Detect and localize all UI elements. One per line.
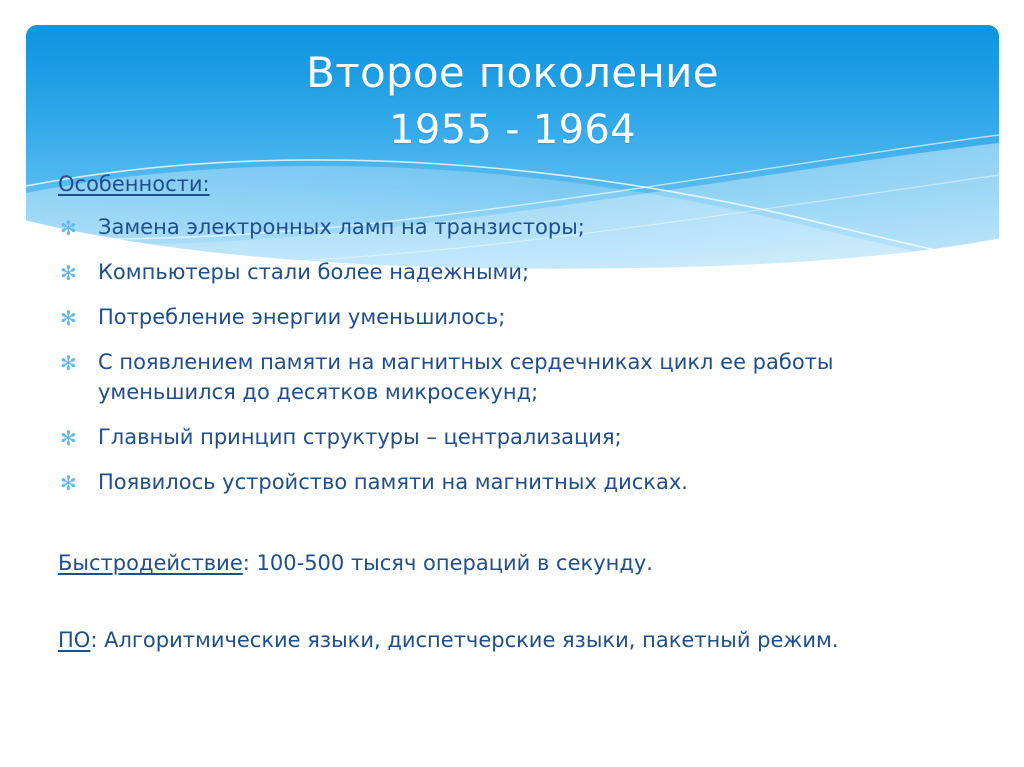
list-item-text: Замена электронных ламп на транзисторы;	[98, 212, 958, 242]
features-heading-label: Особенности	[58, 172, 203, 196]
list-item-text: Главный принцип структуры – централизаци…	[98, 422, 958, 452]
list-item: ✻ Потребление энергии уменьшилось;	[58, 302, 958, 332]
slide: Второе поколение 1955 - 1964 Особенности…	[0, 0, 1024, 767]
performance-note-value: 100-500 тысяч операций в секунду.	[257, 551, 653, 575]
features-heading: Особенности:	[58, 170, 210, 198]
features-heading-colon: :	[203, 172, 210, 196]
list-item-text: Потребление энергии уменьшилось;	[98, 302, 958, 332]
list-item: ✻ С появлением памяти на магнитных серде…	[58, 347, 958, 407]
performance-note: Быстродействие: 100-500 тысяч операций в…	[58, 548, 653, 578]
software-note-value: Алгоритмические языки, диспетчерские язы…	[104, 628, 838, 652]
performance-note-label: Быстродействие	[58, 551, 243, 575]
list-item: ✻ Главный принцип структуры – централиза…	[58, 422, 958, 452]
list-item-text: Компьютеры стали более надежными;	[98, 257, 958, 287]
asterisk-bullet-icon: ✻	[60, 468, 82, 498]
list-item: ✻ Компьютеры стали более надежными;	[58, 257, 958, 287]
performance-note-separator: :	[243, 551, 257, 575]
list-item-text: Появилось устройство памяти на магнитных…	[98, 467, 958, 497]
software-note-label: ПО	[58, 628, 90, 652]
asterisk-bullet-icon: ✻	[60, 303, 82, 333]
features-bullet-list: ✻ Замена электронных ламп на транзисторы…	[58, 212, 958, 497]
asterisk-bullet-icon: ✻	[60, 423, 82, 453]
software-note: ПО: Алгоритмические языки, диспетчерские…	[58, 625, 839, 655]
list-item: ✻ Замена электронных ламп на транзисторы…	[58, 212, 958, 242]
list-item-text: С появлением памяти на магнитных сердечн…	[98, 347, 958, 407]
asterisk-bullet-icon: ✻	[60, 213, 82, 243]
asterisk-bullet-icon: ✻	[60, 258, 82, 288]
list-item: ✻ Появилось устройство памяти на магнитн…	[58, 467, 958, 497]
software-note-separator: :	[90, 628, 104, 652]
asterisk-bullet-icon: ✻	[60, 348, 82, 378]
